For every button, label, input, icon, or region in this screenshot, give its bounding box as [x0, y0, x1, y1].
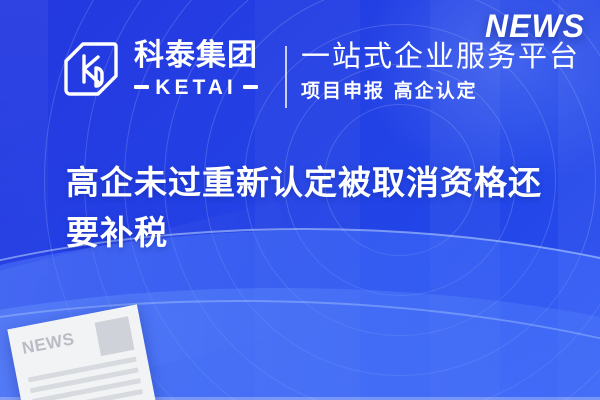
brand-name-en-row: KETAI	[134, 77, 258, 98]
header-divider	[285, 46, 287, 108]
wordmark-dash-right	[243, 85, 258, 89]
brand-name-en: KETAI	[155, 77, 236, 98]
brand-name-cn: 科泰集团	[134, 41, 258, 71]
newspaper-thumbnail-icon	[95, 316, 135, 356]
newspaper-masthead: NEWS	[21, 330, 76, 357]
brand-wordmark: 科泰集团 KETAI	[134, 41, 258, 98]
news-label: NEWS	[485, 8, 585, 45]
header-tagline: 一站式企业服务平台 项目申报 高企认定	[301, 41, 580, 101]
tagline-secondary: 项目申报 高企认定	[301, 82, 580, 101]
news-banner: 科泰集团 KETAI 一站式企业服务平台 项目申报 高企认定 NEWS 高企未过…	[0, 0, 600, 400]
article-headline: 高企未过重新认定被取消资格还要补税	[66, 158, 566, 258]
ketai-diamond-kt-monogram-logo-icon	[62, 40, 120, 98]
tagline-primary: 一站式企业服务平台	[301, 41, 580, 73]
brand-logo[interactable]: 科泰集团 KETAI	[62, 40, 258, 98]
wordmark-dash-left	[134, 85, 149, 89]
newspaper-graphic: NEWS	[7, 304, 156, 400]
